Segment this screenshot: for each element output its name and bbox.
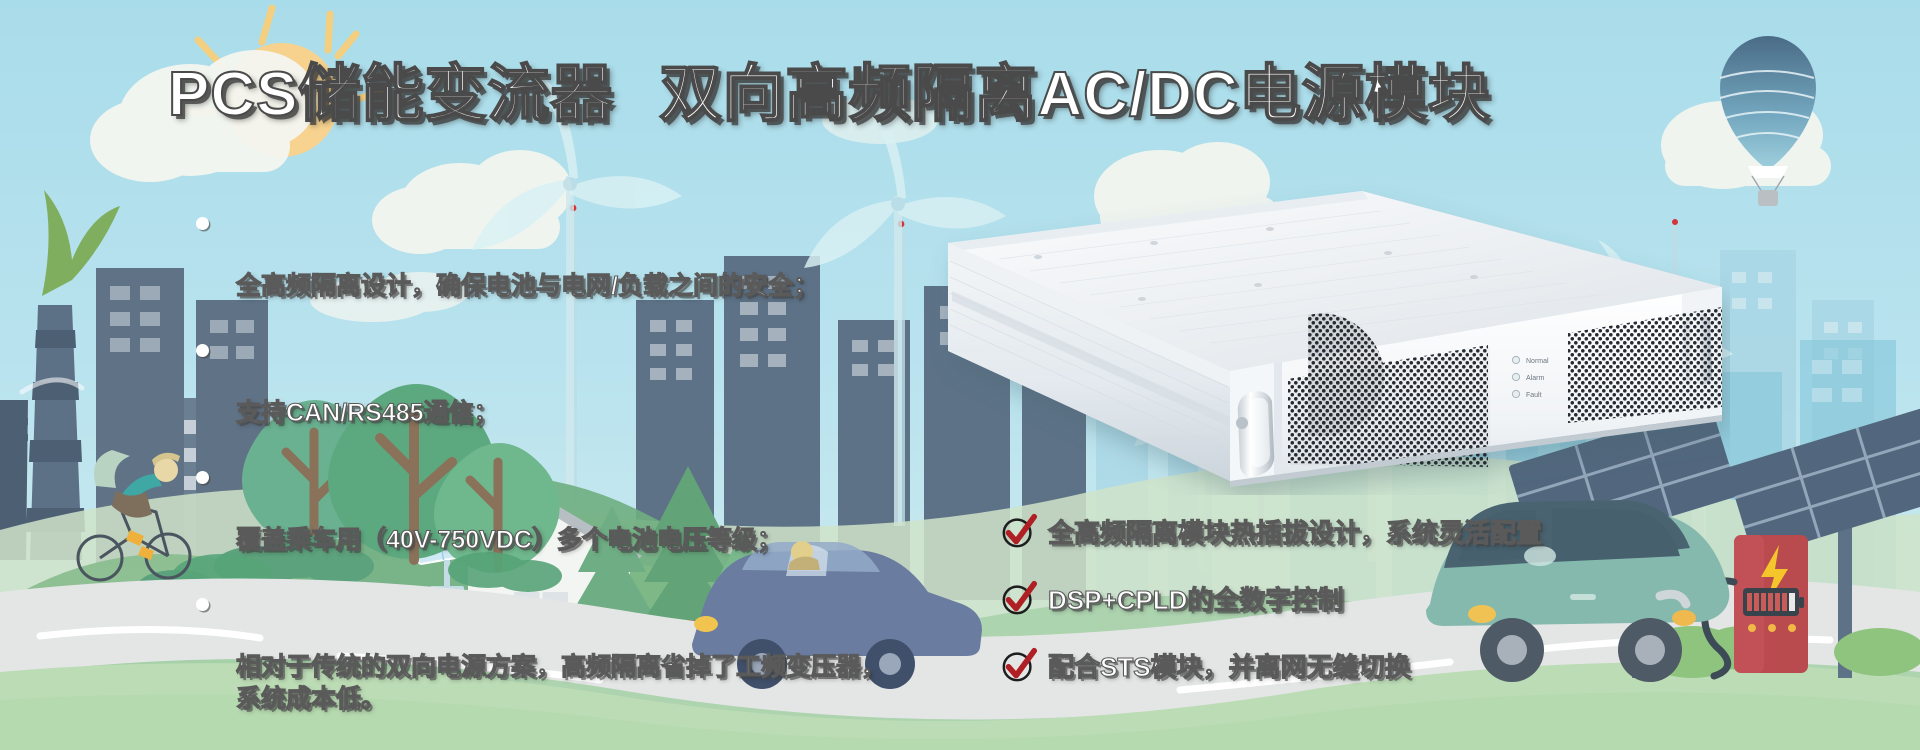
list-item: 全高频隔离设计，确保电池与电网/负载之间的安全； [196, 206, 1076, 302]
page-title-sub: 双向高频隔离AC/DC电源模块 [659, 60, 1490, 129]
list-item: 全高频隔离模块热插拔设计，系统灵活配置 [1000, 512, 1820, 550]
feature-text: 相对于传统的双向电源方案，高频隔离省掉了工频变压器， 系统成本低。 [236, 653, 886, 713]
promo-banner: Normal Alarm Fault PCS储能变流器双向高频隔离AC/DC电源… [0, 0, 1920, 750]
bullet-dot-icon [196, 471, 209, 484]
list-item: 配合STS模块，并离网无缝切换 [1000, 646, 1820, 684]
led-label-fault: Fault [1526, 392, 1542, 399]
check-circle-icon [1000, 512, 1038, 550]
check-circle-icon [1000, 646, 1038, 684]
list-item: DSP+CPLD的全数字控制 [1000, 579, 1820, 617]
list-item: 支持CAN/RS485通信； [196, 333, 1076, 429]
list-item: 覆盖乘车用（40V-750VDC）多个电池电压等级； [196, 460, 1076, 556]
highlight-list: 全高频隔离模块热插拔设计，系统灵活配置 DSP+CPLD的全数字控制 配合STS… [1000, 512, 1820, 713]
feature-list: 全高频隔离设计，确保电池与电网/负载之间的安全； 支持CAN/RS485通信； … [196, 206, 1076, 746]
feature-text: 覆盖乘车用（40V-750VDC）多个电池电压等级； [236, 526, 782, 554]
page-title: PCS储能变流器双向高频隔离AC/DC电源模块 [168, 62, 1348, 127]
highlight-text: 全高频隔离模块热插拔设计，系统灵活配置 [1048, 513, 1542, 550]
check-circle-icon [1000, 579, 1038, 617]
led-label-normal: Normal [1526, 358, 1549, 365]
device-handle [1236, 391, 1274, 477]
feature-text: 支持CAN/RS485通信； [236, 399, 499, 427]
bullet-dot-icon [196, 217, 209, 230]
bullet-dot-icon [196, 344, 209, 357]
page-title-main: PCS储能变流器 [168, 60, 613, 129]
bullet-dot-icon [196, 598, 209, 611]
led-label-alarm: Alarm [1526, 375, 1544, 382]
feature-text: 全高频隔离设计，确保电池与电网/负载之间的安全； [236, 272, 818, 300]
highlight-text: 配合STS模块，并离网无缝切换 [1048, 647, 1411, 684]
highlight-text: DSP+CPLD的全数字控制 [1048, 580, 1343, 617]
cyclist-icon [78, 450, 190, 580]
list-item: 相对于传统的双向电源方案，高频隔离省掉了工频变压器， 系统成本低。 [196, 587, 1076, 715]
